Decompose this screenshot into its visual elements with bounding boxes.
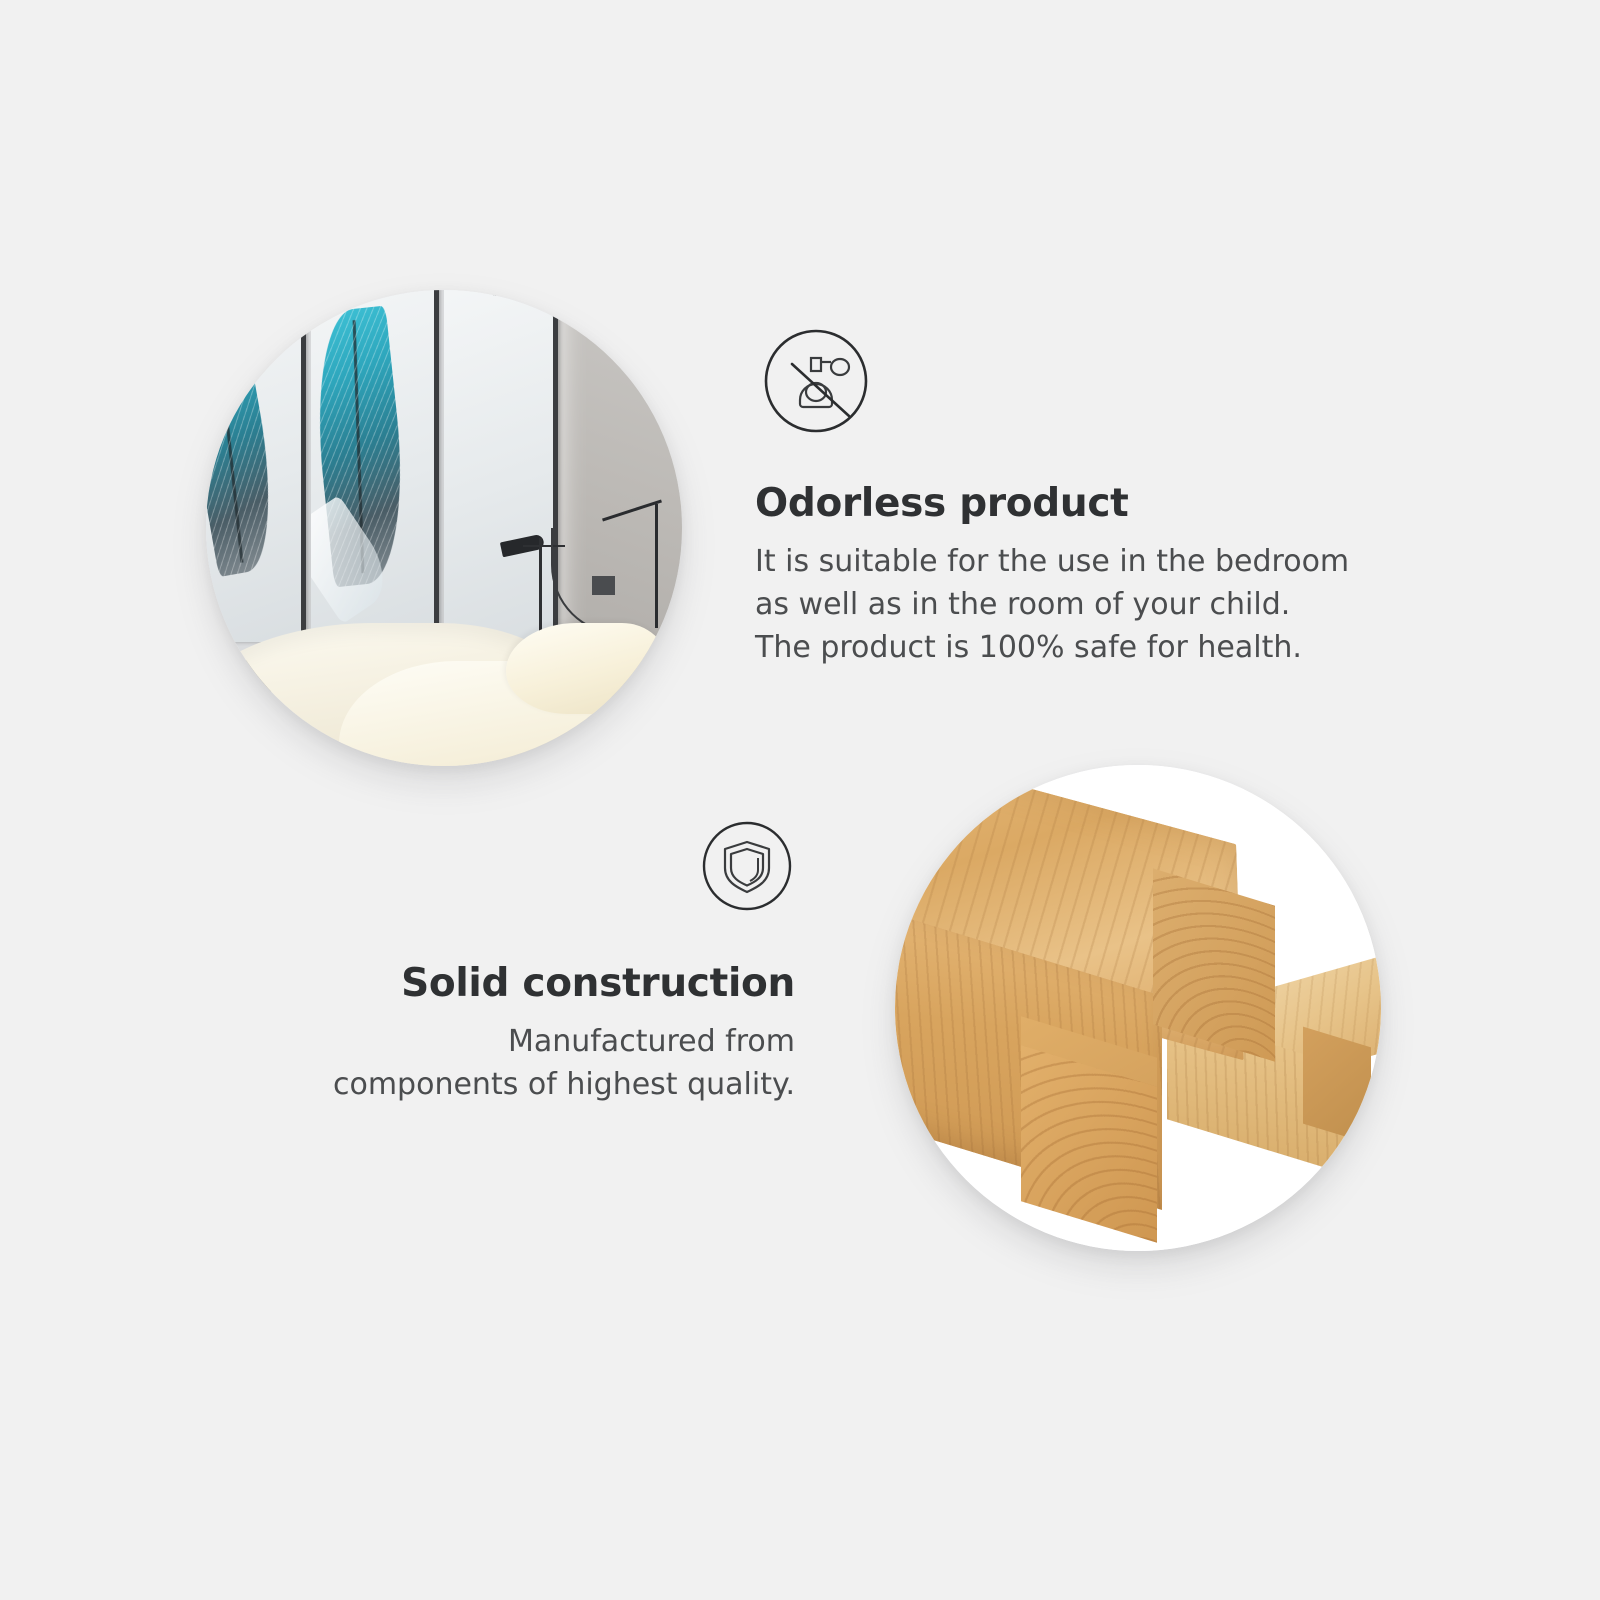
nightstand-box: [592, 576, 616, 595]
bed-pillow: [506, 623, 668, 713]
feature-body-odorless: It is suitable for the use in the bedroo…: [755, 540, 1455, 670]
feather-barbs: [206, 309, 288, 577]
feature-title-solid-construction: Solid construction: [200, 962, 795, 1006]
shield-icon: [701, 820, 793, 912]
feature-title-odorless: Odorless product: [755, 482, 1455, 526]
feature-body-solid-construction: Manufactured from components of highest …: [200, 1020, 795, 1106]
canvas-panel-2: [311, 290, 440, 642]
feature-solid-construction: Solid construction Manufactured from com…: [200, 962, 795, 1106]
bedroom-scene: [206, 290, 682, 766]
wall-lamp-pole: [655, 504, 658, 628]
infographic-canvas: Odorless product It is suitable for the …: [0, 0, 1600, 1600]
wooden-beams-photo: [895, 765, 1381, 1251]
canvas-panel-1: [206, 290, 306, 642]
wood-scene: [895, 765, 1381, 1251]
feather-art-1: [206, 309, 288, 577]
bedroom-feather-artwork-photo: [206, 290, 682, 766]
no-perfume-icon: [763, 328, 869, 434]
wood-plank-end-grain: [1303, 1027, 1371, 1145]
feature-odorless: Odorless product It is suitable for the …: [755, 482, 1455, 669]
